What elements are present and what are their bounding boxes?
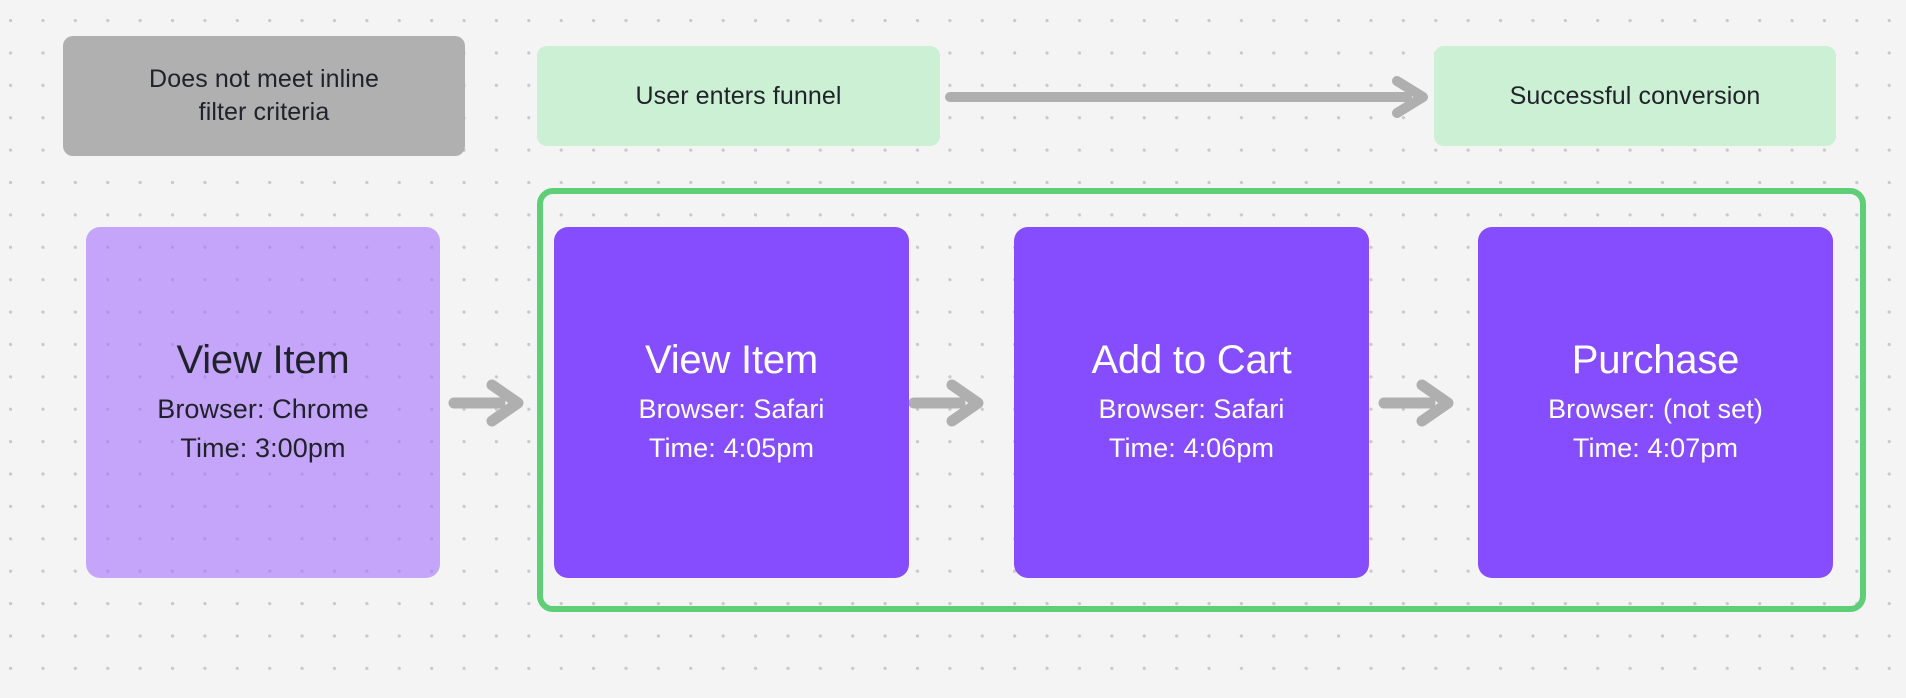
legend-user-enters-funnel: User enters funnel: [537, 46, 940, 146]
event-card-excluded-browser: Browser: Chrome: [157, 390, 369, 429]
legend-excluded-criteria: Does not meet inline filter criteria: [63, 36, 465, 156]
event-card-step-1-browser: Browser: Safari: [638, 390, 824, 429]
event-card-excluded-time: Time: 3:00pm: [180, 429, 345, 468]
event-card-step-3: Purchase Browser: (not set) Time: 4:07pm: [1478, 227, 1833, 578]
legend-user-enters-funnel-label: User enters funnel: [635, 80, 841, 113]
legend-successful-conversion: Successful conversion: [1434, 46, 1836, 146]
diagram-canvas: Does not meet inline filter criteria Use…: [0, 0, 1906, 698]
legend-flow-arrow: [945, 79, 1431, 115]
event-card-step-1-title: View Item: [645, 337, 818, 383]
event-card-step-1-time: Time: 4:05pm: [649, 429, 814, 468]
step-arrow-1: [448, 380, 526, 426]
event-card-step-3-time: Time: 4:07pm: [1573, 429, 1738, 468]
event-card-step-3-title: Purchase: [1572, 337, 1739, 383]
legend-successful-conversion-label: Successful conversion: [1510, 80, 1761, 113]
event-card-step-1: View Item Browser: Safari Time: 4:05pm: [554, 227, 909, 578]
event-card-step-3-browser: Browser: (not set): [1548, 390, 1763, 429]
event-card-step-2: Add to Cart Browser: Safari Time: 4:06pm: [1014, 227, 1369, 578]
legend-excluded-line1: Does not meet inline: [149, 65, 379, 93]
legend-excluded-line2: filter criteria: [199, 98, 330, 126]
legend-excluded-text: Does not meet inline filter criteria: [149, 63, 379, 129]
event-card-step-2-time: Time: 4:06pm: [1109, 429, 1274, 468]
event-card-excluded: View Item Browser: Chrome Time: 3:00pm: [86, 227, 440, 578]
event-card-step-2-title: Add to Cart: [1091, 337, 1291, 383]
event-card-excluded-title: View Item: [176, 337, 349, 383]
event-card-step-2-browser: Browser: Safari: [1098, 390, 1284, 429]
